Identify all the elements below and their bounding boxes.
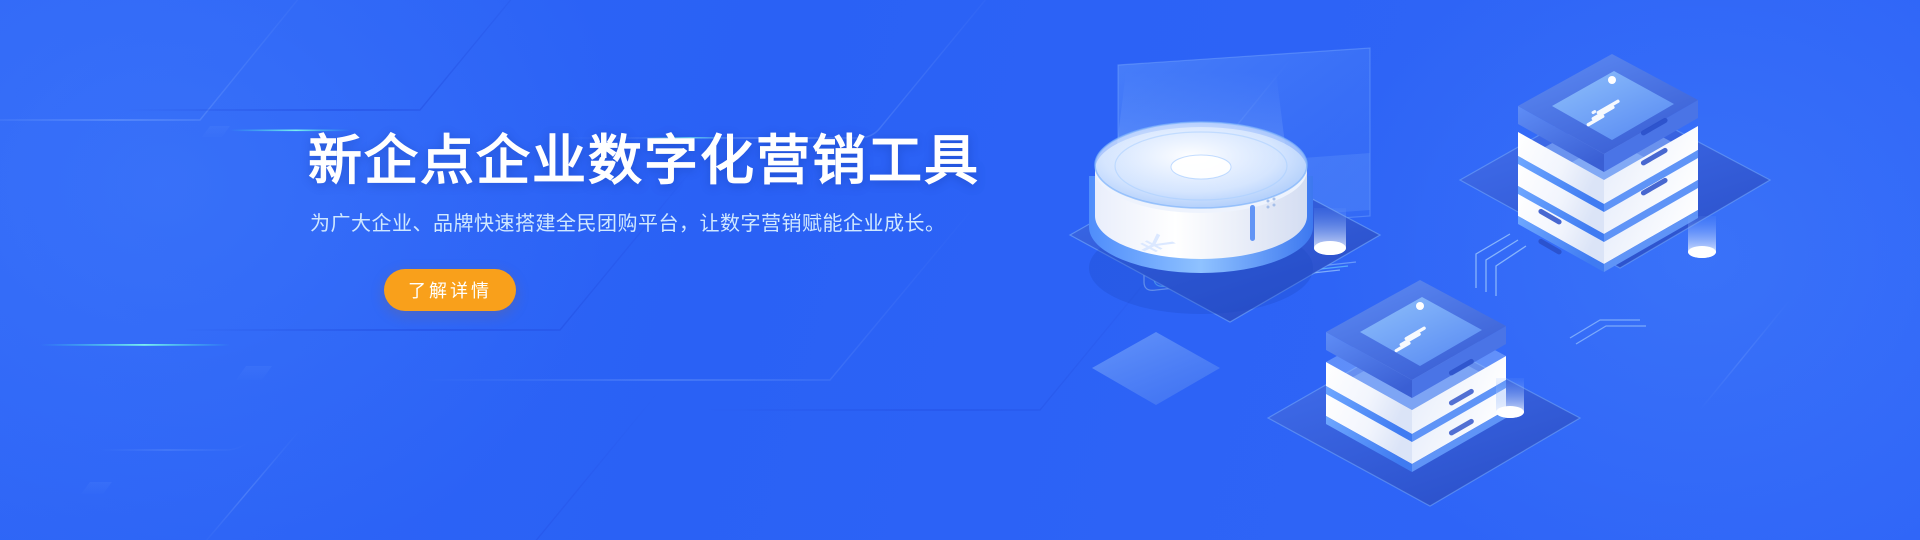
post-bottom <box>1496 378 1524 418</box>
circuit-lines-bottom <box>1570 320 1646 344</box>
server-stack-bottom <box>1268 280 1646 506</box>
post-center <box>1314 208 1346 255</box>
circuit-lines-right <box>1476 234 1526 296</box>
illustration-svg: ¥ <box>1040 20 1840 520</box>
banner-title: 新企点企业数字化营销工具 <box>308 130 1008 193</box>
post-right <box>1688 216 1716 258</box>
banner-content: 新企点企业数字化营销工具 为广大企业、品牌快速搭建全民团购平台，让数字营销赋能企… <box>308 130 1008 311</box>
promo-banner: 新企点企业数字化营销工具 为广大企业、品牌快速搭建全民团购平台，让数字营销赋能企… <box>0 0 1920 540</box>
cylinder-device <box>1089 122 1313 314</box>
server-stack-right <box>1460 54 1770 296</box>
learn-more-button[interactable]: 了解详情 <box>384 269 516 311</box>
banner-subtitle: 为广大企业、品牌快速搭建全民团购平台，让数字营销赋能企业成长。 <box>310 209 1008 239</box>
isometric-illustration: ¥ <box>1040 20 1840 520</box>
device-indicator-bar <box>1250 205 1255 241</box>
